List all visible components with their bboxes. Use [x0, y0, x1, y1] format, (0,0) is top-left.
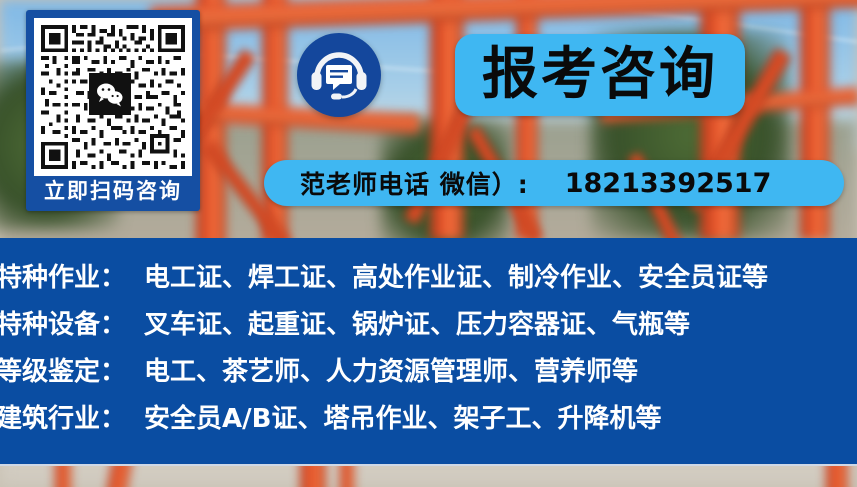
promo-banner: 立即扫码咨询 报考咨询 范老师电话 微信）: 18213392517 特	[0, 0, 857, 487]
wechat-glyph	[95, 81, 125, 107]
title-pill: 报考咨询	[455, 34, 745, 116]
list-item: 特种作业： 电工证、焊工证、高处作业证、制冷作业、安全员证等	[0, 252, 857, 299]
course-category-panel: 特种作业： 电工证、焊工证、高处作业证、制冷作业、安全员证等 特种设备： 叉车证…	[0, 238, 857, 466]
category-label: 特种设备：	[0, 304, 126, 341]
category-items: 电工证、焊工证、高处作业证、制冷作业、安全员证等	[144, 257, 768, 294]
category-items: 电工、茶艺师、人力资源管理师、营养师等	[144, 351, 638, 388]
category-label: 特种作业：	[0, 257, 126, 294]
list-item: 等级鉴定： 电工、茶艺师、人力资源管理师、营养师等	[0, 346, 857, 393]
category-label: 等级鉴定：	[0, 351, 126, 388]
contact-phone-number[interactable]: 18213392517	[565, 168, 772, 199]
headset-glyph	[309, 47, 369, 103]
wechat-icon	[89, 73, 131, 115]
list-item: 特种设备： 叉车证、起重证、锅炉证、压力容器证、气瓶等	[0, 299, 857, 346]
list-item: 建筑行业： 安全员A/B证、塔吊作业、架子工、升降机等	[0, 393, 857, 440]
qr-code-image	[34, 18, 192, 176]
page-title: 报考咨询	[482, 47, 718, 103]
category-label: 建筑行业：	[0, 398, 126, 435]
category-items: 安全员A/B证、塔吊作业、架子工、升降机等	[144, 398, 661, 435]
qr-card-label: 立即扫码咨询	[34, 176, 192, 209]
qr-card[interactable]: 立即扫码咨询	[26, 10, 200, 211]
contact-pill[interactable]: 范老师电话 微信）: 18213392517	[264, 160, 844, 206]
category-items: 叉车证、起重证、锅炉证、压力容器证、气瓶等	[144, 304, 690, 341]
headset-support-icon[interactable]	[297, 33, 381, 117]
contact-label: 范老师电话 微信）:	[300, 165, 529, 201]
